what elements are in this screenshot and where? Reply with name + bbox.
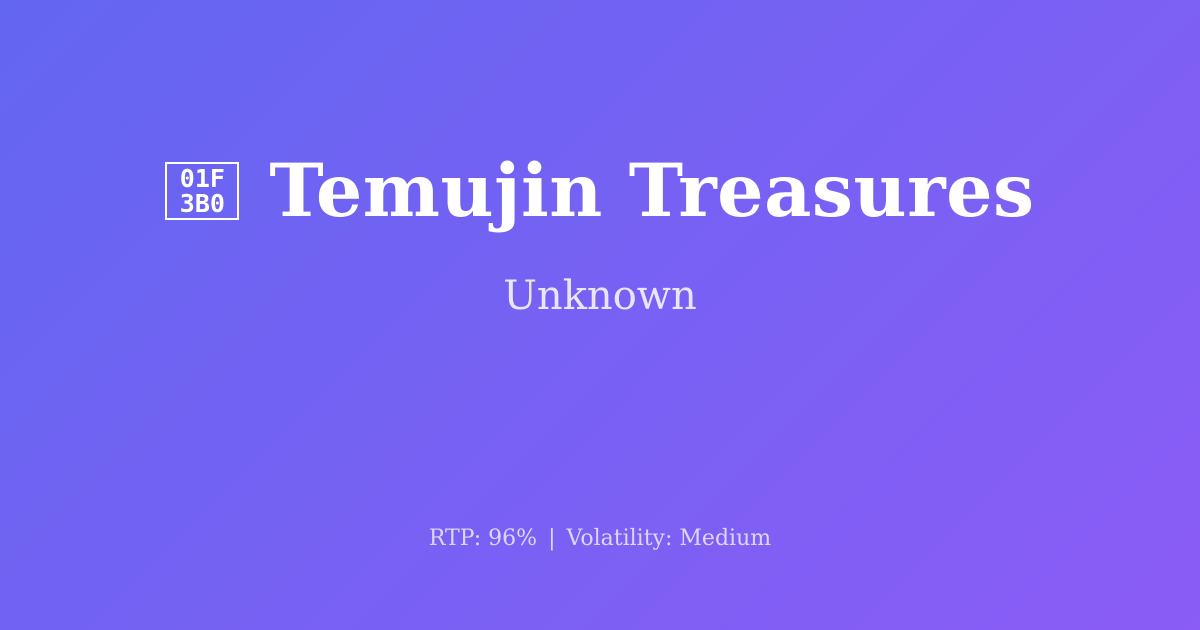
hero-section: 01F 3B0 Temujin Treasures Unknown [0,0,1200,470]
rtp-value: 96% [488,526,537,551]
slot-machine-emoji-tofu-icon: 01F 3B0 [165,162,239,220]
game-provider: Unknown [503,276,697,316]
tofu-codepoint-bottom: 3B0 [180,191,225,216]
game-meta-footer: RTP: 96% | Volatility: Medium [0,528,1200,550]
volatility-label: Volatility: [567,526,673,551]
game-title: Temujin Treasures [269,154,1034,228]
rtp-label: RTP: [429,526,481,551]
tofu-codepoint-top: 01F [180,166,225,191]
game-og-card: 01F 3B0 Temujin Treasures Unknown RTP: 9… [0,0,1200,630]
title-row: 01F 3B0 Temujin Treasures [165,154,1034,228]
meta-separator: | [544,526,559,551]
volatility-value: Medium [679,526,771,551]
